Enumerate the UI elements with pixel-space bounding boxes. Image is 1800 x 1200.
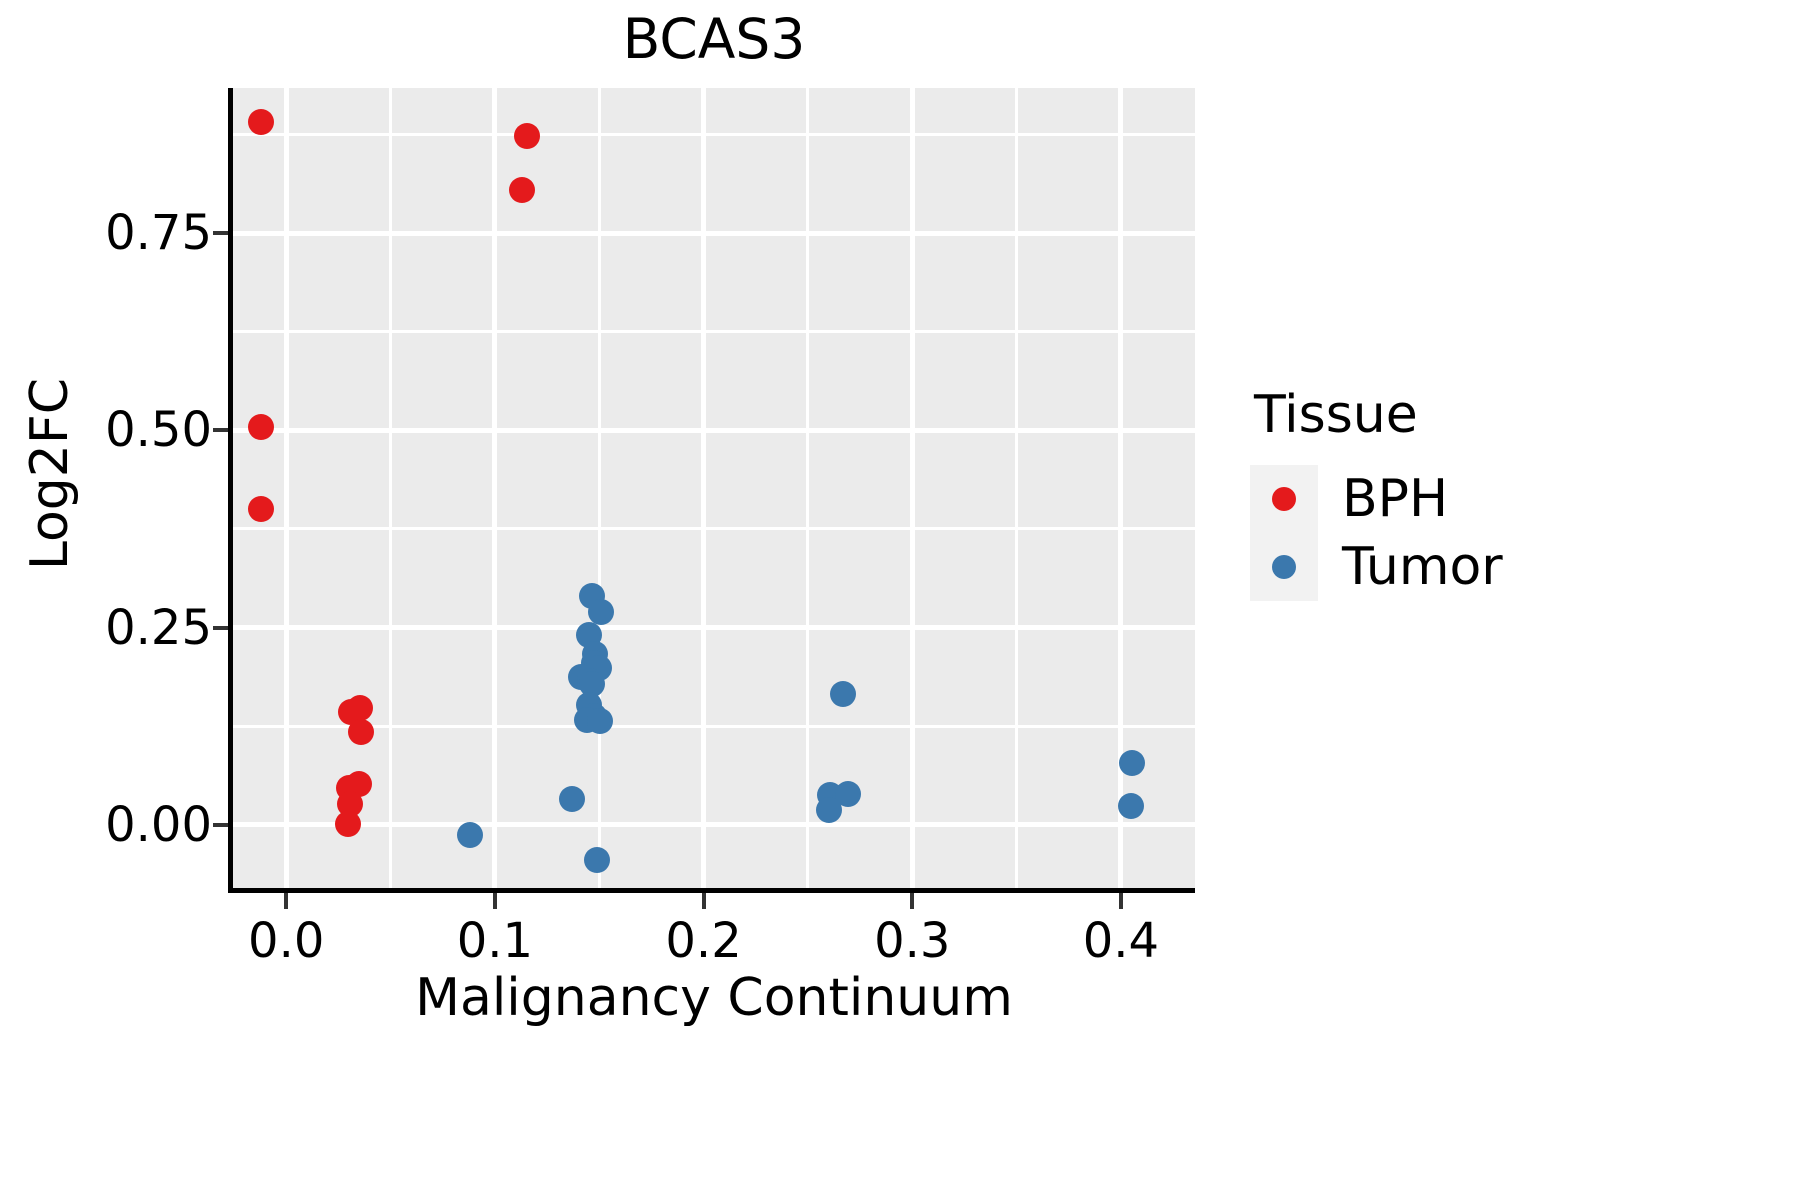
x-axis-label: Malignancy Continuum <box>233 968 1195 1028</box>
data-point-tumor <box>1118 793 1144 819</box>
data-point-tumor <box>587 708 613 734</box>
data-point-bph <box>514 123 540 149</box>
legend-item-bph[interactable]: BPH <box>1250 465 1503 533</box>
data-point-bph <box>248 109 274 135</box>
gridline-y-major <box>233 231 1195 236</box>
x-tick-mark <box>284 893 288 909</box>
gridline-x-major <box>284 88 289 888</box>
y-tick-mark <box>213 626 228 630</box>
y-tick-mark <box>213 231 228 235</box>
data-point-tumor <box>584 847 610 873</box>
legend-title: Tissue <box>1254 385 1503 445</box>
data-point-bph <box>248 414 274 440</box>
x-tick-label: 0.2 <box>665 915 741 967</box>
data-point-tumor <box>835 781 861 807</box>
gridline-y-minor <box>233 133 1195 136</box>
x-tick-mark <box>910 893 914 909</box>
legend-item-tumor[interactable]: Tumor <box>1250 533 1503 601</box>
x-tick-label: 0.0 <box>248 915 324 967</box>
gridline-y-minor <box>233 330 1195 333</box>
data-point-bph <box>335 811 361 837</box>
y-tick-label: 0.75 <box>105 209 212 257</box>
gridline-x-minor <box>1015 88 1018 888</box>
y-tick-mark <box>213 823 228 827</box>
legend-item-label: Tumor <box>1342 537 1503 597</box>
gridline-x-minor <box>806 88 809 888</box>
page-title: BCAS3 <box>233 8 1195 70</box>
gridline-x-major <box>701 88 706 888</box>
y-axis-line <box>228 88 233 888</box>
legend: Tissue BPHTumor <box>1250 385 1503 601</box>
data-point-bph <box>509 177 535 203</box>
scatter-plot-figure: BCAS3 0.000.250.500.75 0.00.10.20.30.4 M… <box>0 0 1800 1200</box>
data-point-tumor <box>559 786 585 812</box>
y-tick-label: 0.00 <box>105 801 212 849</box>
data-point-bph <box>347 695 373 721</box>
gridline-x-major <box>492 88 497 888</box>
gridline-y-major <box>233 822 1195 827</box>
x-tick-label: 0.4 <box>1083 915 1159 967</box>
plot-panel <box>233 88 1195 888</box>
gridline-x-minor <box>598 88 601 888</box>
legend-entries: BPHTumor <box>1250 465 1503 601</box>
legend-point-icon <box>1272 555 1296 579</box>
data-point-tumor <box>830 681 856 707</box>
x-tick-label: 0.1 <box>457 915 533 967</box>
data-point-bph <box>248 496 274 522</box>
x-tick-mark <box>1119 893 1123 909</box>
x-tick-label: 0.3 <box>874 915 950 967</box>
y-tick-mark <box>213 428 228 432</box>
y-tick-label: 0.50 <box>105 406 212 454</box>
gridline-y-minor <box>233 725 1195 728</box>
x-axis-line <box>228 888 1195 893</box>
data-point-tumor <box>457 822 483 848</box>
gridline-y-minor <box>233 527 1195 530</box>
data-point-bph <box>348 719 374 745</box>
gridline-y-major <box>233 625 1195 630</box>
data-point-tumor <box>588 599 614 625</box>
legend-point-icon <box>1272 487 1296 511</box>
y-axis-label: Log2FC <box>20 264 80 684</box>
x-tick-mark <box>702 893 706 909</box>
gridline-x-major <box>910 88 915 888</box>
legend-item-label: BPH <box>1342 469 1448 529</box>
legend-key-swatch <box>1250 465 1318 533</box>
gridline-y-major <box>233 428 1195 433</box>
y-tick-label: 0.25 <box>105 604 212 652</box>
gridline-x-minor <box>389 88 392 888</box>
data-point-tumor <box>1119 750 1145 776</box>
x-tick-mark <box>493 893 497 909</box>
legend-key-swatch <box>1250 533 1318 601</box>
